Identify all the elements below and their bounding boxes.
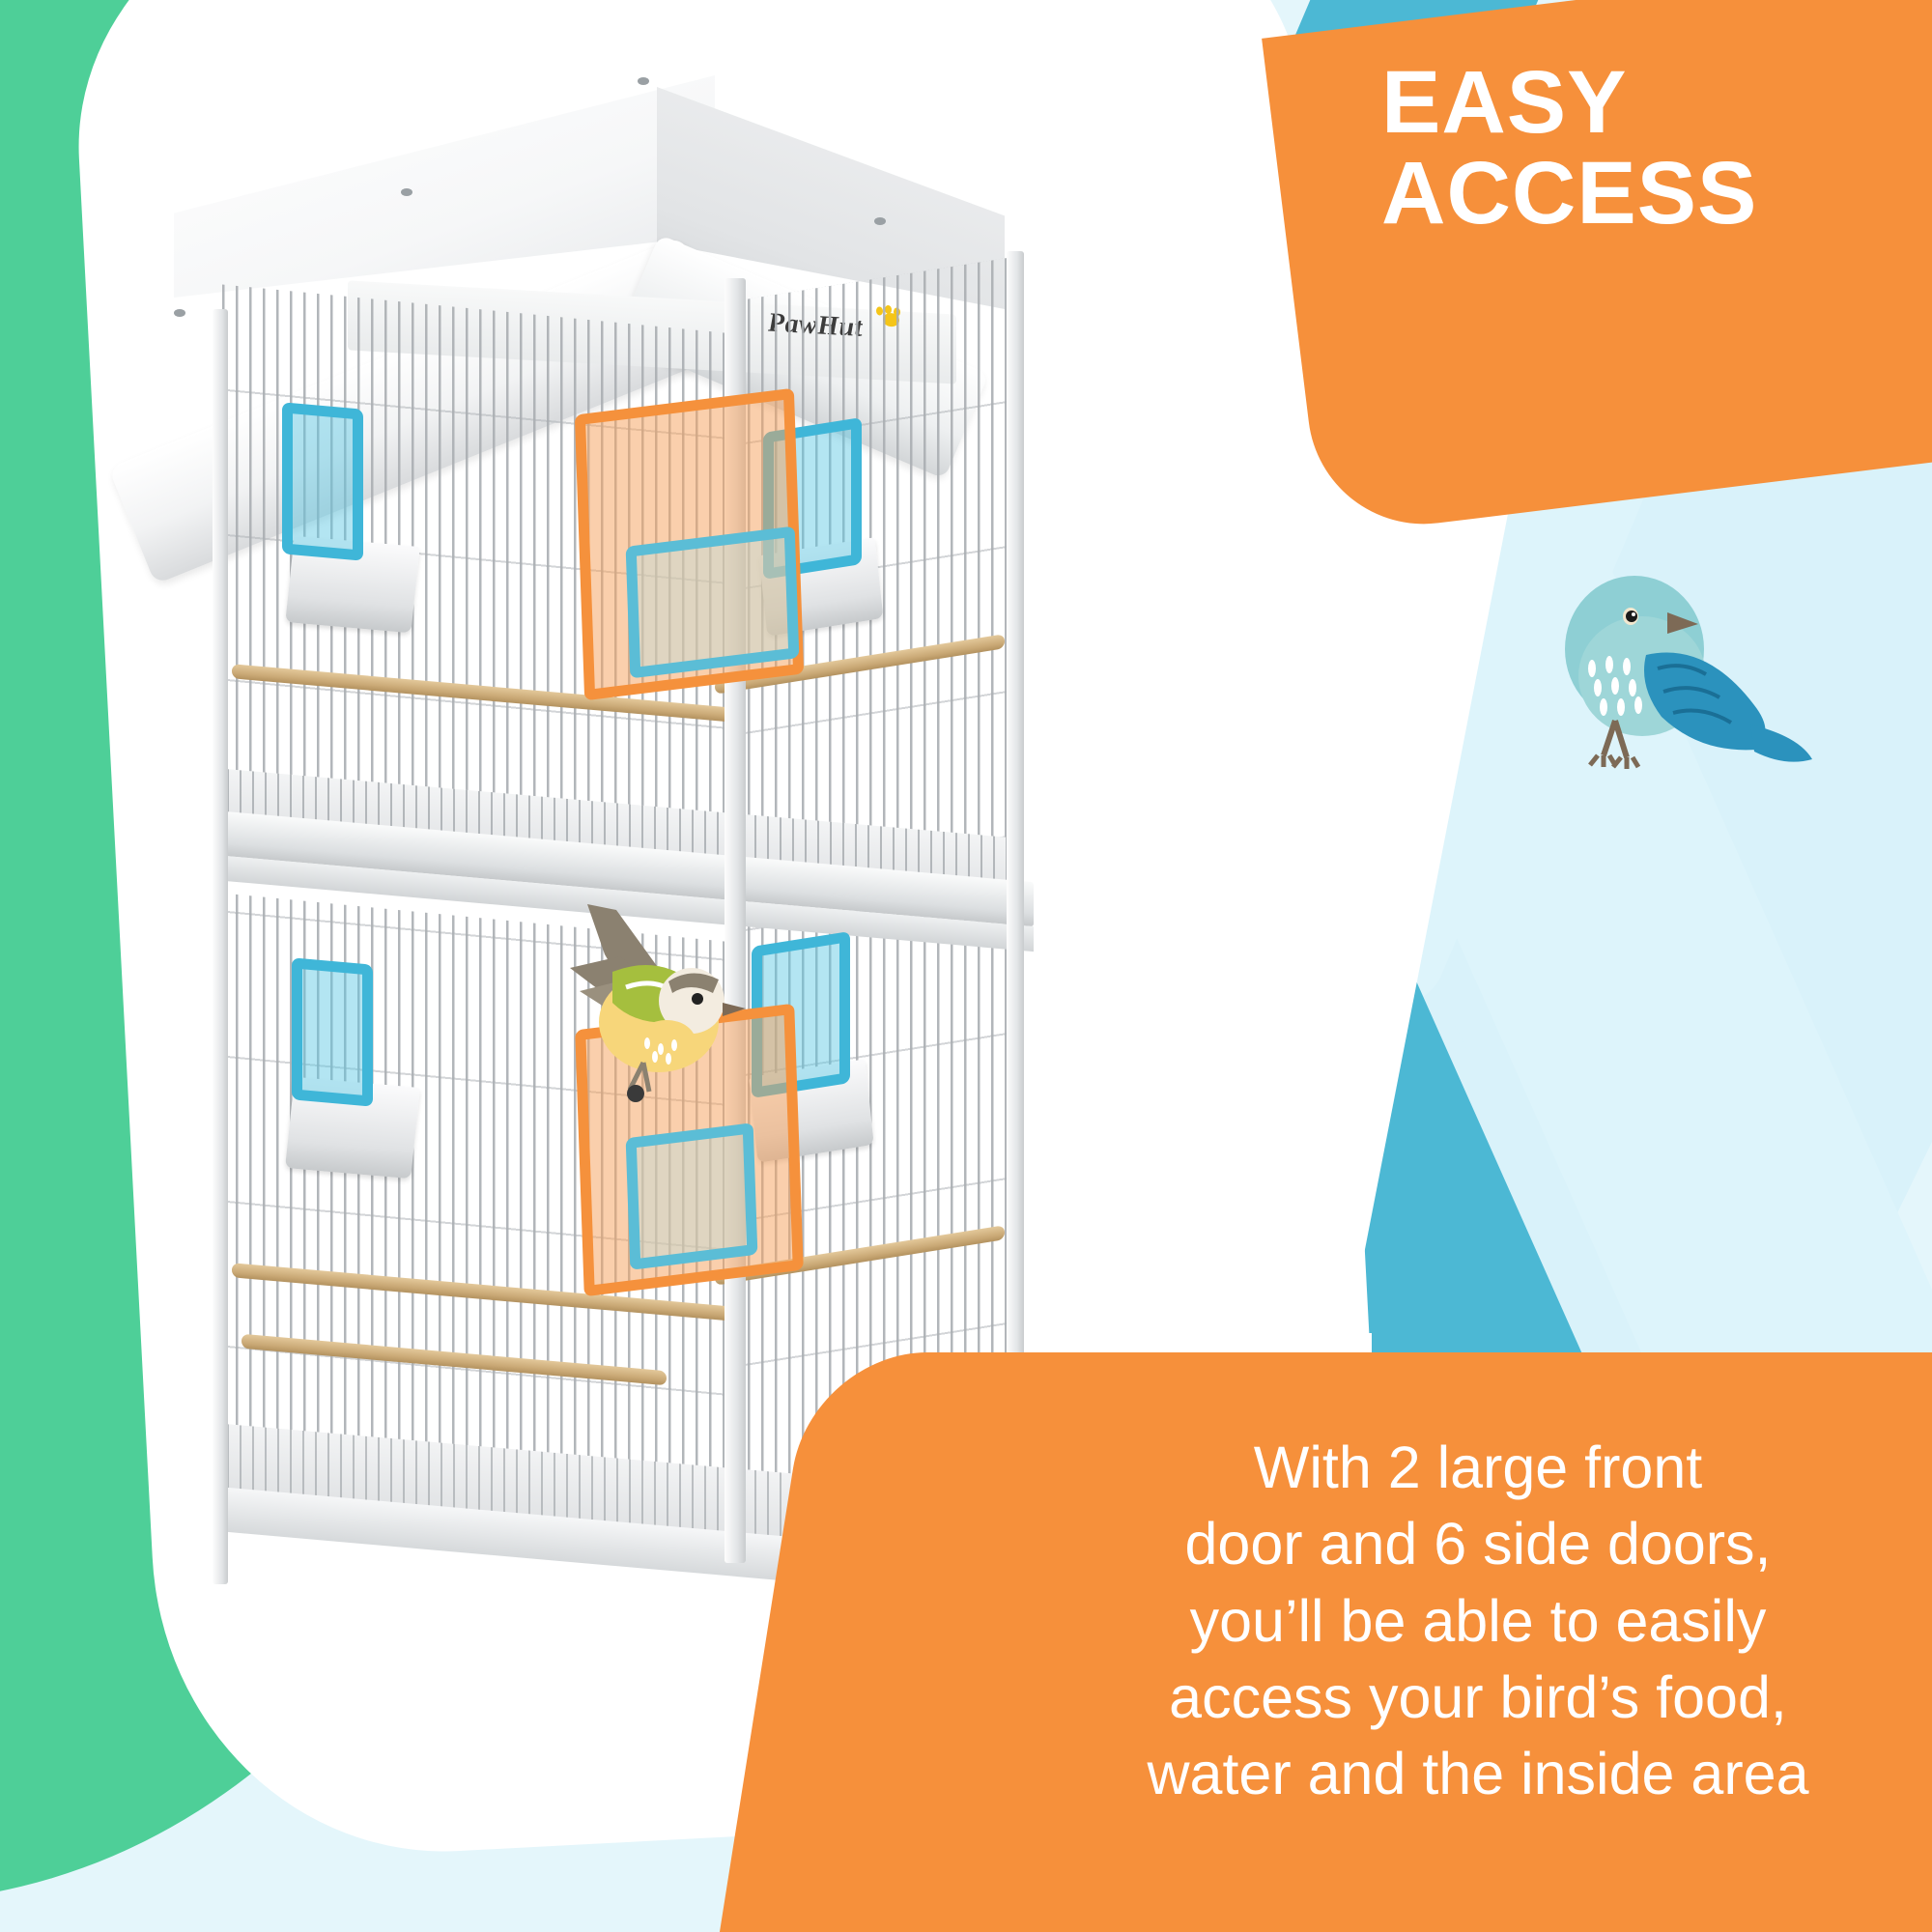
headline-line-2: ACCESS: [1381, 149, 1922, 240]
blue-bird-foot-left: [1590, 755, 1615, 767]
blue-bird-tail: [1750, 724, 1812, 762]
side-door-upper-left-highlight[interactable]: [282, 402, 363, 560]
blue-bird-foot-right: [1613, 757, 1638, 769]
description-line-1: With 2 large front: [1024, 1430, 1932, 1506]
description-line-3: you’ll be able to easily: [1024, 1583, 1932, 1660]
headline-line-1: EASY: [1381, 58, 1922, 149]
frame-post-left: [213, 309, 228, 1584]
marketing-image-canvas: PawHut: [0, 0, 1932, 1932]
description-line-4: access your bird’s food,: [1024, 1660, 1932, 1736]
description-text: With 2 large front door and 6 side doors…: [1024, 1430, 1932, 1812]
side-door-lower-left-highlight[interactable]: [292, 957, 373, 1106]
front-door-lower-inner-panel[interactable]: [626, 1122, 758, 1270]
blue-bird-eye: [1626, 611, 1637, 622]
bird-foot: [627, 1085, 644, 1102]
yellow-green-bird-illustration: [512, 898, 753, 1121]
roof-screw-icon: [874, 217, 886, 225]
roof-screw-icon: [401, 188, 412, 196]
description-line-5: water and the inside area: [1024, 1736, 1932, 1812]
headline-text: EASY ACCESS: [1381, 58, 1922, 240]
description-line-2: door and 6 side doors,: [1024, 1506, 1932, 1582]
blue-bird-eye-glint: [1632, 612, 1635, 616]
roof-screw-icon: [174, 309, 185, 317]
frame-post-right: [1007, 251, 1024, 1410]
bird-beak: [723, 1003, 746, 1016]
roof-screw-icon: [638, 77, 649, 85]
blue-bird-illustration: [1526, 560, 1816, 782]
front-door-upper-inner-panel[interactable]: [626, 526, 800, 679]
bird-eye: [692, 993, 703, 1005]
